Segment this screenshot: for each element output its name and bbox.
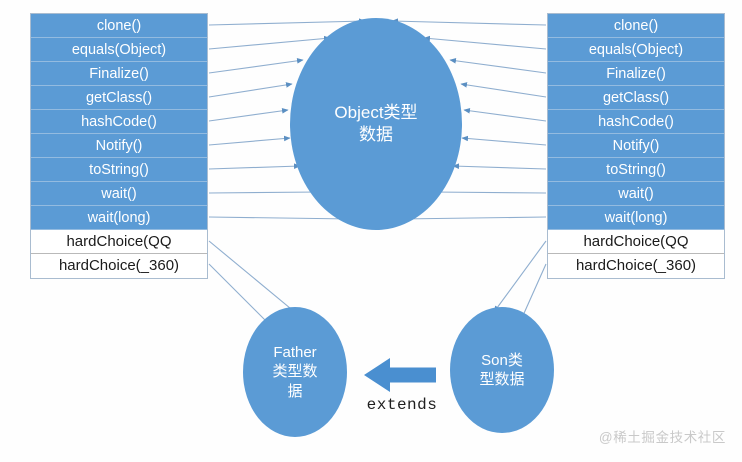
node-son-text: Son类 型数据 xyxy=(473,351,530,389)
table-row[interactable]: getClass() xyxy=(31,86,207,110)
table-row[interactable]: hardChoice(_360) xyxy=(548,254,724,278)
diagram-canvas: clone() equals(Object) Finalize() getCla… xyxy=(0,0,742,462)
extends-arrow-icon xyxy=(364,355,436,395)
table-row[interactable]: wait(long) xyxy=(548,206,724,230)
node-object[interactable]: Object类型 数据 xyxy=(290,18,462,230)
table-row[interactable]: hardChoice(QQ xyxy=(548,230,724,254)
table-row[interactable]: clone() xyxy=(31,14,207,38)
extends-label: extends xyxy=(356,396,448,414)
table-row[interactable]: Notify() xyxy=(31,134,207,158)
table-row[interactable]: Finalize() xyxy=(31,62,207,86)
node-father[interactable]: Father 类型数 据 xyxy=(243,307,347,437)
table-row[interactable]: Notify() xyxy=(548,134,724,158)
table-row[interactable]: wait() xyxy=(31,182,207,206)
table-row[interactable]: wait() xyxy=(548,182,724,206)
node-son[interactable]: Son类 型数据 xyxy=(450,307,554,433)
table-row[interactable]: toString() xyxy=(548,158,724,182)
node-object-line2: 数据 xyxy=(359,125,393,144)
watermark: @稀土掘金技术社区 xyxy=(599,426,726,446)
node-father-line3: 据 xyxy=(287,383,302,400)
table-row[interactable]: hashCode() xyxy=(548,110,724,134)
table-row[interactable]: toString() xyxy=(31,158,207,182)
father-method-table: clone() equals(Object) Finalize() getCla… xyxy=(30,13,208,279)
table-row[interactable]: wait(long) xyxy=(31,206,207,230)
table-row[interactable]: equals(Object) xyxy=(548,38,724,62)
table-row[interactable]: clone() xyxy=(548,14,724,38)
node-object-text: Object类型 数据 xyxy=(328,102,423,146)
table-row[interactable]: hashCode() xyxy=(31,110,207,134)
node-son-line2: 型数据 xyxy=(479,371,524,388)
node-object-line1: Object类型 xyxy=(334,103,417,122)
node-father-text: Father 类型数 据 xyxy=(266,343,323,401)
son-method-table: clone() equals(Object) Finalize() getCla… xyxy=(547,13,725,279)
table-row[interactable]: getClass() xyxy=(548,86,724,110)
node-father-line1: Father xyxy=(273,344,316,361)
node-father-line2: 类型数 xyxy=(272,363,317,380)
table-row[interactable]: hardChoice(QQ xyxy=(31,230,207,254)
node-son-line1: Son类 xyxy=(481,352,523,369)
table-row[interactable]: hardChoice(_360) xyxy=(31,254,207,278)
table-row[interactable]: Finalize() xyxy=(548,62,724,86)
table-row[interactable]: equals(Object) xyxy=(31,38,207,62)
